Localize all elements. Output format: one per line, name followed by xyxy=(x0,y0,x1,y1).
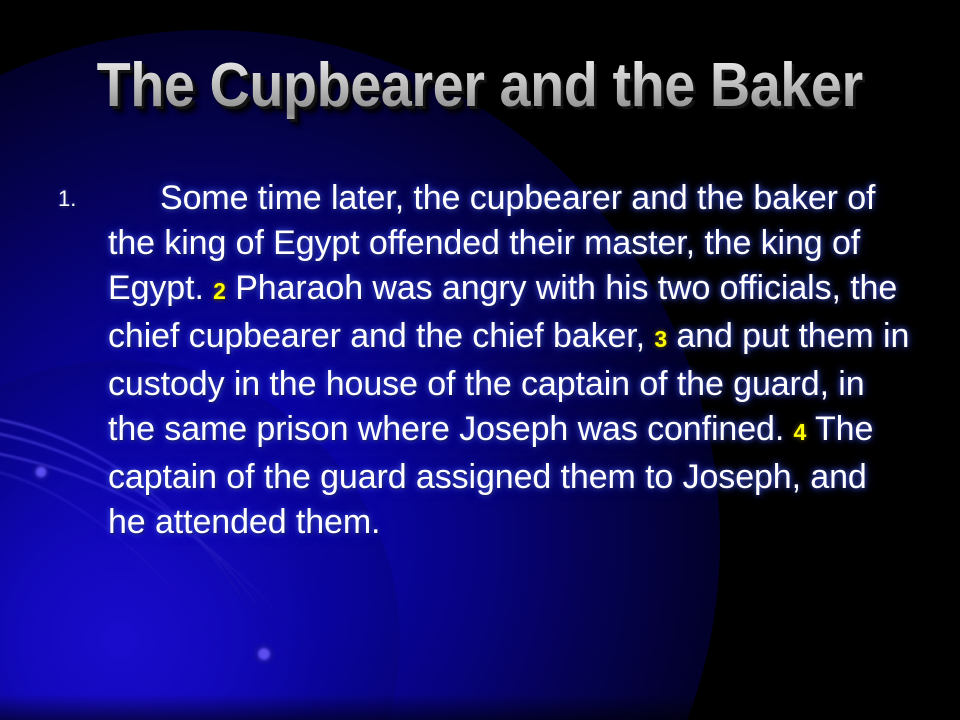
slide-title: The Cupbearer and the Baker xyxy=(97,52,863,120)
verse-number: 2 xyxy=(213,278,226,304)
list-marker: 1. xyxy=(54,176,108,221)
list-item: 1. Some time later, the cupbearer and th… xyxy=(54,176,910,545)
scripture-paragraph: Some time later, the cupbearer and the b… xyxy=(108,176,910,545)
verse-number: 4 xyxy=(794,419,807,445)
slide-body: 1. Some time later, the cupbearer and th… xyxy=(54,176,910,545)
presentation-slide: The Cupbearer and the Baker 1. Some time… xyxy=(0,0,960,720)
slide-title-container: The Cupbearer and the Baker xyxy=(0,52,960,120)
bottom-fade xyxy=(0,694,960,720)
verse-number: 3 xyxy=(654,326,667,352)
